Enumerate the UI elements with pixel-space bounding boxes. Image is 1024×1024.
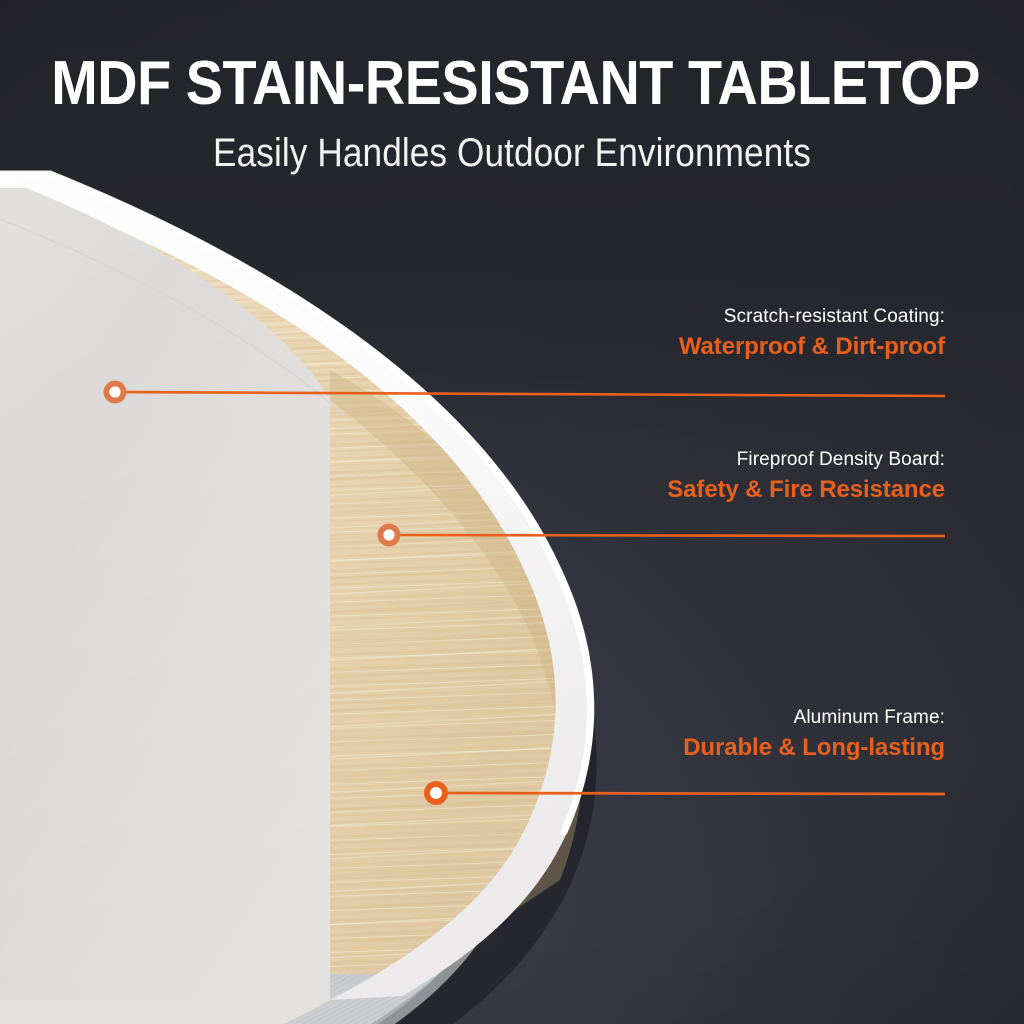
callout-aluminum-frame: Aluminum Frame: Durable & Long-lasting [545, 706, 945, 763]
callout-value: Waterproof & Dirt-proof [545, 331, 945, 362]
callout-value: Safety & Fire Resistance [545, 474, 945, 505]
coating-side-bottom [0, 1000, 330, 1024]
callout-label: Aluminum Frame: [545, 706, 945, 730]
header-block: MDF STAIN-RESISTANT TABLETOP Easily Hand… [0, 0, 1024, 176]
coated-top-surface [0, 172, 594, 1000]
callout-fireproof-density-board: Fireproof Density Board: Safety & Fire R… [545, 448, 945, 505]
callout-scratch-resistant-coating: Scratch-resistant Coating: Waterproof & … [545, 305, 945, 362]
page-subtitle: Easily Handles Outdoor Environments [61, 115, 962, 176]
callout-label: Fireproof Density Board: [545, 448, 945, 472]
page-title: MDF STAIN-RESISTANT TABLETOP [51, 0, 973, 115]
callout-label: Scratch-resistant Coating: [545, 305, 945, 329]
callout-value: Durable & Long-lasting [545, 732, 945, 763]
product-feature-image: MDF STAIN-RESISTANT TABLETOP Easily Hand… [0, 0, 1024, 1024]
